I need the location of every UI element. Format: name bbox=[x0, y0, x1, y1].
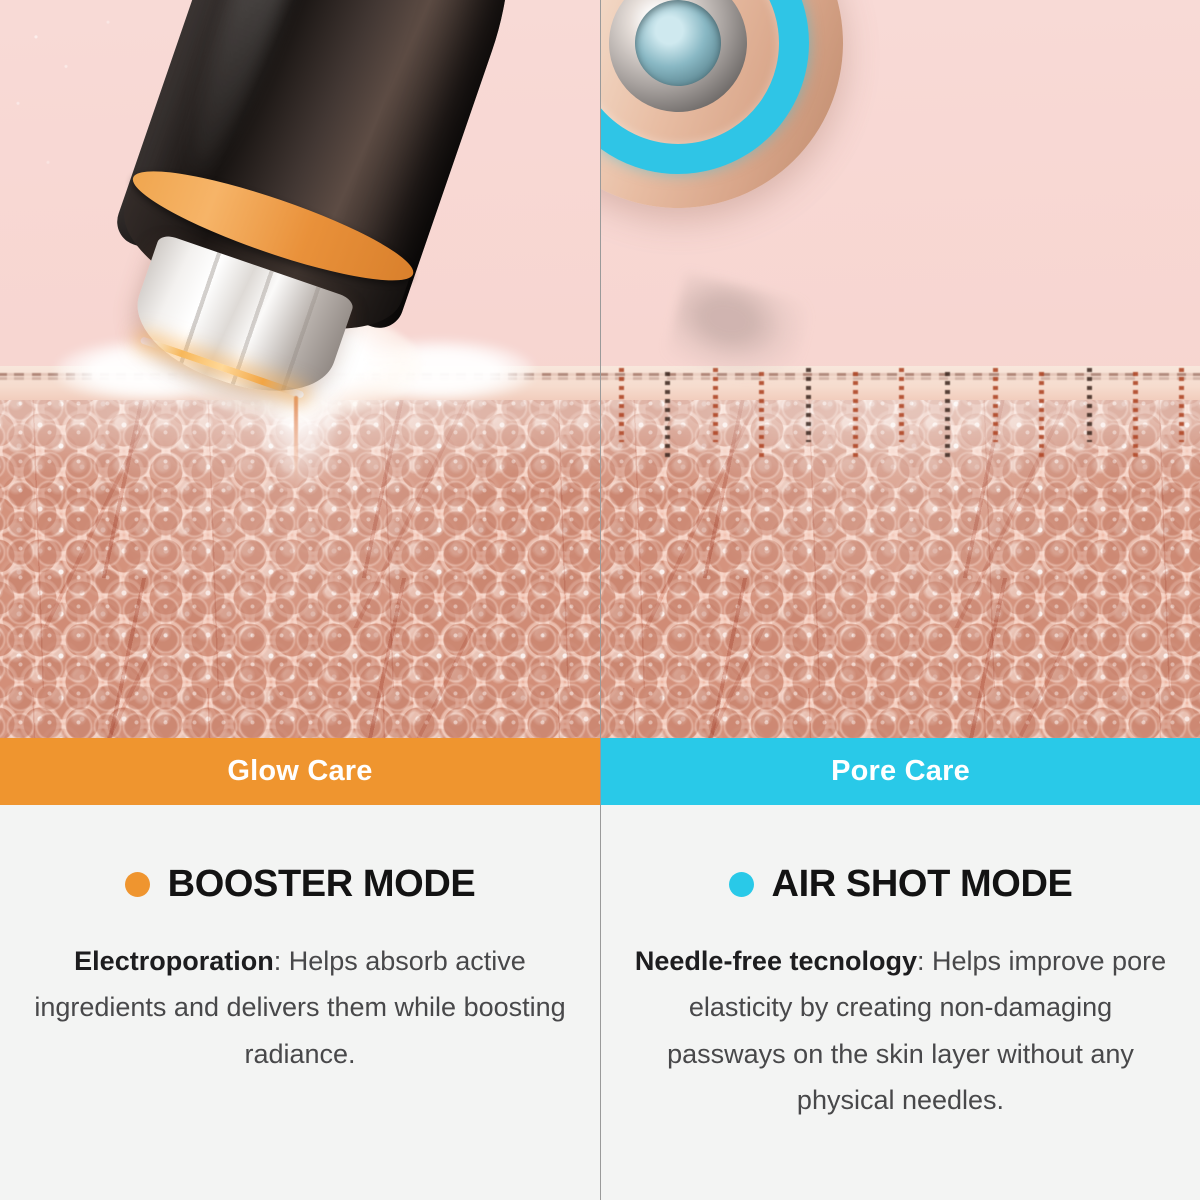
banner-pore-care: Pore Care bbox=[601, 738, 1200, 805]
mode-title: BOOSTER MODE bbox=[168, 863, 476, 906]
skin-dermis-layer bbox=[0, 388, 600, 738]
mode-heading-row: AIR SHOT MODE bbox=[627, 805, 1174, 906]
banner-label: Glow Care bbox=[227, 755, 372, 788]
skincare-device-booster-icon bbox=[78, 0, 564, 429]
mode-heading-row: BOOSTER MODE bbox=[26, 805, 574, 906]
skincare-device-airshot-icon bbox=[601, 0, 864, 229]
banner-label: Pore Care bbox=[831, 755, 970, 788]
copy-pore-care: AIR SHOT MODE Needle-free tecnology: Hel… bbox=[601, 805, 1200, 1200]
collagen-fiber-overlay bbox=[601, 388, 1200, 738]
visual-glow-care bbox=[0, 0, 600, 738]
collagen-fiber-overlay bbox=[0, 388, 600, 738]
bullet-dot-cyan bbox=[729, 872, 754, 897]
copy-glow-care: BOOSTER MODE Electroporation: Helps abso… bbox=[0, 805, 600, 1200]
visual-pore-care bbox=[601, 0, 1200, 738]
skin-cross-section-channels-icon bbox=[601, 366, 1200, 738]
banner-glow-care: Glow Care bbox=[0, 738, 600, 805]
mode-comparison-infographic: Glow Care BOOSTER MODE Electroporation: … bbox=[0, 0, 1200, 1200]
mode-description: Needle-free tecnology: Helps improve por… bbox=[627, 938, 1174, 1124]
skin-epidermis-layer bbox=[601, 366, 1200, 400]
mode-description: Electroporation: Helps absorb active ing… bbox=[26, 938, 574, 1077]
mode-title: AIR SHOT MODE bbox=[772, 863, 1073, 906]
panel-glow-care: Glow Care BOOSTER MODE Electroporation: … bbox=[0, 0, 600, 1200]
bullet-dot-orange bbox=[125, 872, 150, 897]
mode-description-lead: Needle-free tecnology bbox=[635, 946, 917, 976]
skin-cross-section-glow-icon bbox=[0, 366, 600, 738]
mode-description-lead: Electroporation bbox=[74, 946, 274, 976]
skin-dermis-layer bbox=[601, 388, 1200, 738]
skin-surface-line bbox=[601, 373, 1200, 376]
skin-surface-line-secondary bbox=[601, 377, 1200, 380]
panel-pore-care: Pore Care AIR SHOT MODE Needle-free tecn… bbox=[600, 0, 1200, 1200]
